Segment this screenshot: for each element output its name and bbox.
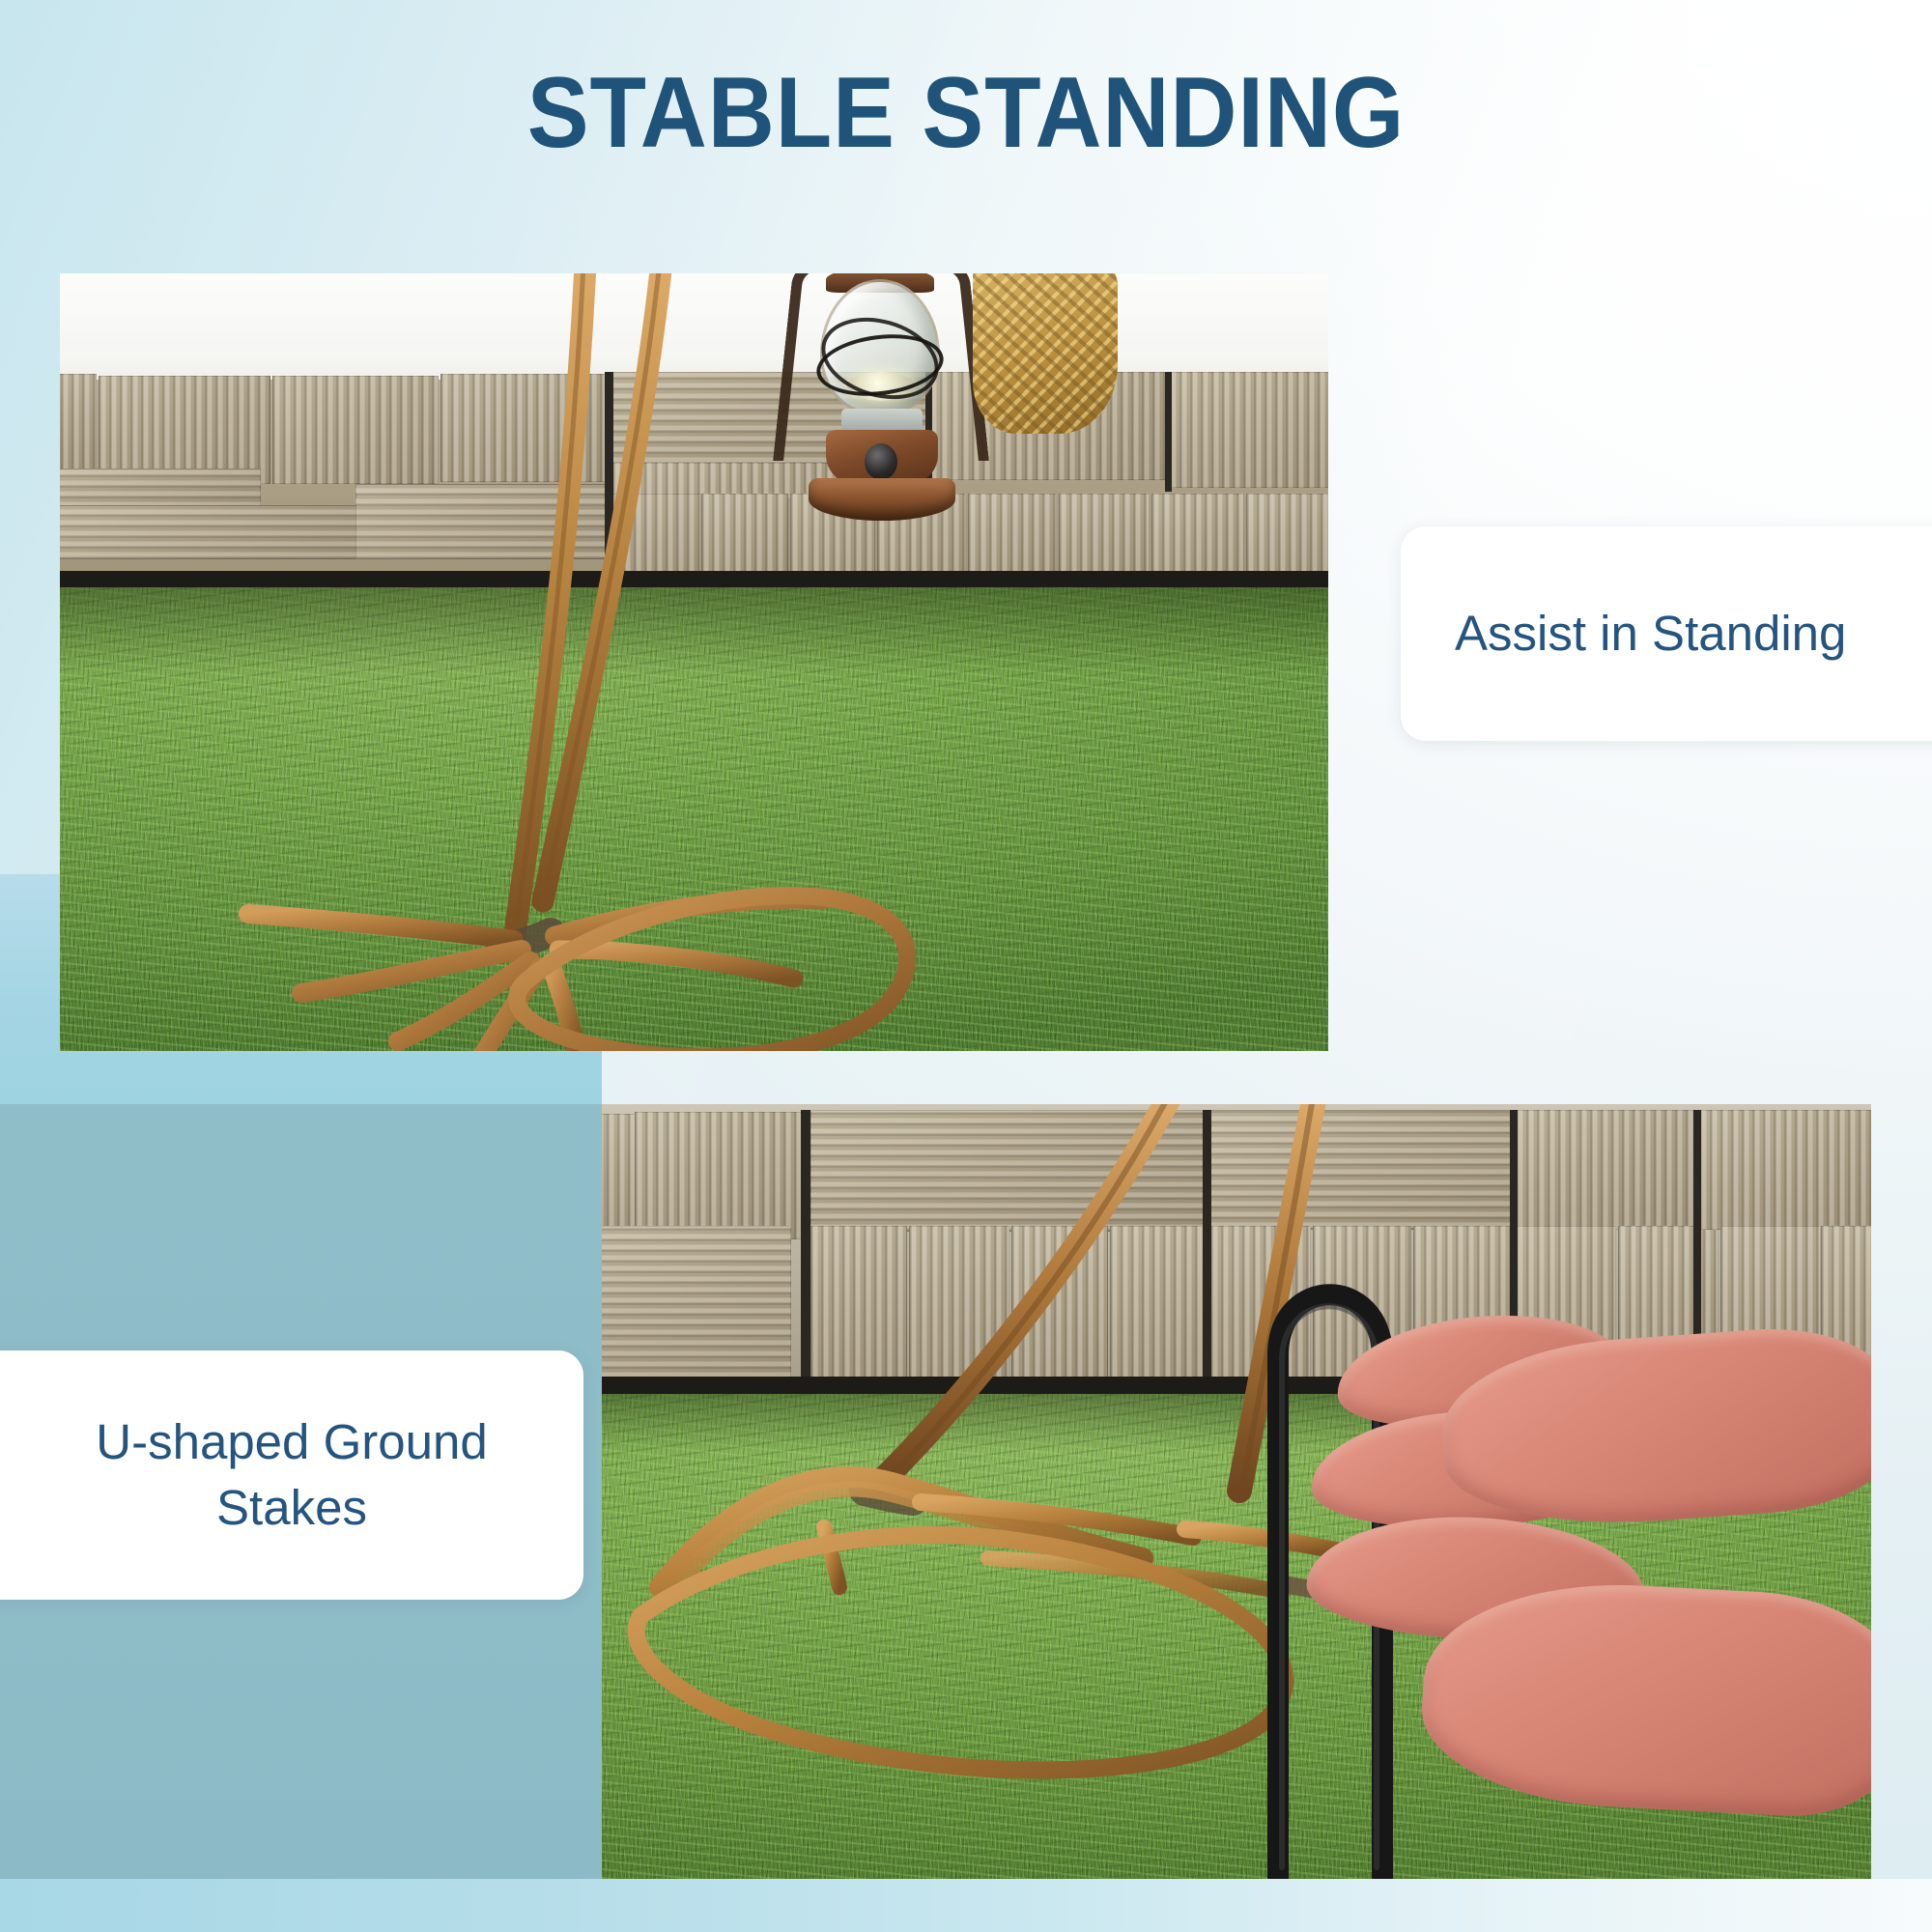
photo-u-shaped-ground-stakes	[602, 1104, 1871, 1879]
label-u-shaped-ground-stakes: U-shaped Ground Stakes	[0, 1350, 583, 1600]
photo-assist-in-standing	[60, 273, 1328, 1051]
label-stakes-line2: Stakes	[216, 1480, 367, 1535]
label-assist-in-standing: Assist in Standing	[1401, 526, 1932, 741]
background-bottom-strip	[0, 1879, 1932, 1932]
hand-icon	[1278, 1278, 1871, 1780]
hammock-stand-base-top	[60, 273, 1328, 1051]
label-stakes-line1: U-shaped Ground	[96, 1414, 487, 1469]
label-stakes-text: U-shaped Ground Stakes	[65, 1409, 519, 1542]
label-assist-text: Assist in Standing	[1455, 601, 1846, 667]
page-title: STABLE STANDING	[77, 61, 1855, 166]
